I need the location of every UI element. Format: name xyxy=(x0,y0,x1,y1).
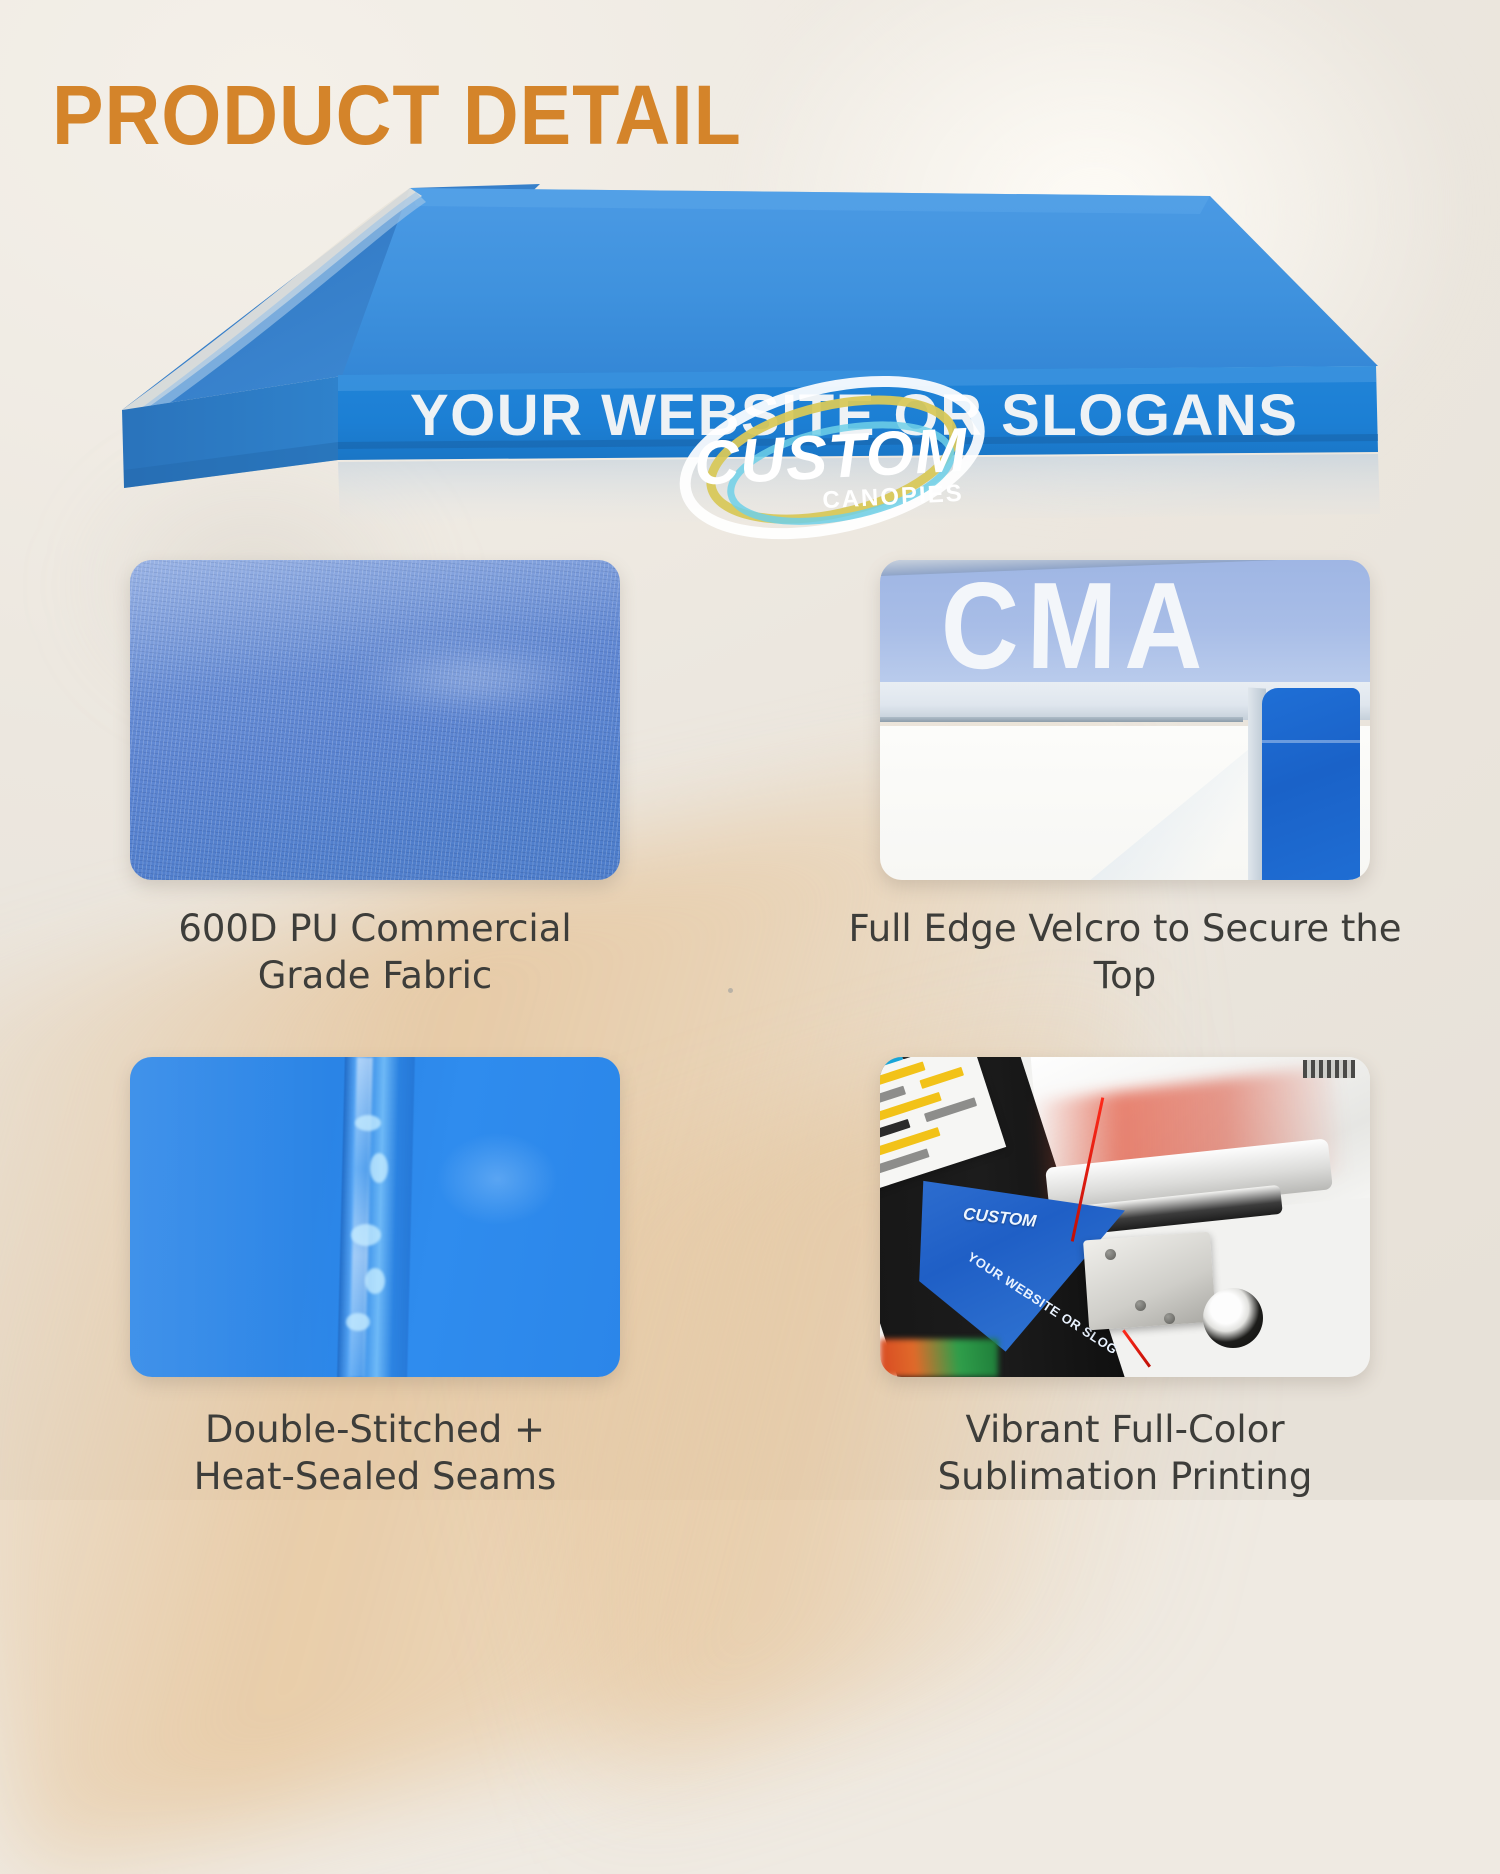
velcro-blue-corner-flap xyxy=(1262,688,1360,880)
feature-row-top: 600D PU Commercial Grade Fabric CMA Full… xyxy=(0,560,1500,999)
caption-line: Vibrant Full-Color xyxy=(825,1407,1425,1454)
caption-line: Grade Fabric xyxy=(75,953,675,1000)
feature-caption-printing: Vibrant Full-Color Sublimation Printing xyxy=(825,1407,1425,1500)
seam-surface-glow xyxy=(414,1115,581,1243)
feature-cell-printing: CUSTOM YOUR WEBSITE OR SLOG Vibrant Full… xyxy=(750,1057,1500,1500)
fabric-texture-photo xyxy=(130,560,620,880)
velcro-stitch-line xyxy=(880,717,1243,722)
velcro-canopy-top-surface: CMA xyxy=(880,560,1370,682)
seam-sealed-tape xyxy=(336,1057,414,1377)
caption-line: 600D PU Commercial xyxy=(75,906,675,953)
feature-caption-fabric: 600D PU Commercial Grade Fabric xyxy=(75,906,675,999)
feature-grid: 600D PU Commercial Grade Fabric CMA Full… xyxy=(0,560,1500,1500)
caption-line: Full Edge Velcro to Secure the Top xyxy=(825,906,1425,999)
velcro-edge-photo: CMA xyxy=(880,560,1370,880)
canopy-roof-front xyxy=(342,188,1378,376)
heat-sealed-seam-photo xyxy=(130,1057,620,1377)
feature-caption-velcro: Full Edge Velcro to Secure the Top xyxy=(825,906,1425,999)
feature-cell-fabric: 600D PU Commercial Grade Fabric xyxy=(0,560,750,999)
seam-speck xyxy=(346,1313,370,1331)
seam-speck xyxy=(351,1224,381,1246)
page-title: PRODUCT DETAIL xyxy=(52,74,742,156)
caption-line: Heat-Sealed Seams xyxy=(75,1454,675,1501)
fabric-sheen-secondary xyxy=(302,630,621,726)
feature-row-bottom: Double-Stitched + Heat-Sealed Seams xyxy=(0,1057,1500,1500)
seam-speck xyxy=(355,1115,381,1131)
velcro-mirrored-letters: CMA xyxy=(940,560,1370,657)
stray-dot-artifact xyxy=(728,988,733,993)
caption-line: Sublimation Printing xyxy=(825,1454,1425,1501)
printer-color-bleed xyxy=(880,1339,998,1377)
hero-canopy-image: YOUR WEBSITE OR SLOGANS YOUR WEBSITE OR … xyxy=(110,170,1410,550)
color-swatch xyxy=(919,1066,964,1088)
caption-line: Double-Stitched + xyxy=(75,1407,675,1454)
canopy-illustration: YOUR WEBSITE OR SLOGANS YOUR WEBSITE OR … xyxy=(110,170,1410,550)
seam-left-shading xyxy=(130,1057,336,1377)
feature-cell-velcro: CMA Full Edge Velcro to Secure the Top xyxy=(750,560,1500,999)
printer-head-carriage xyxy=(1083,1232,1216,1330)
printer-roller-wheel xyxy=(1203,1288,1263,1348)
printer-control-chip xyxy=(1303,1060,1355,1078)
feature-cell-seams: Double-Stitched + Heat-Sealed Seams xyxy=(0,1057,750,1500)
sublimation-printer-photo: CUSTOM YOUR WEBSITE OR SLOG xyxy=(880,1057,1370,1377)
color-swatch xyxy=(901,1057,951,1059)
feature-caption-seams: Double-Stitched + Heat-Sealed Seams xyxy=(75,1407,675,1500)
